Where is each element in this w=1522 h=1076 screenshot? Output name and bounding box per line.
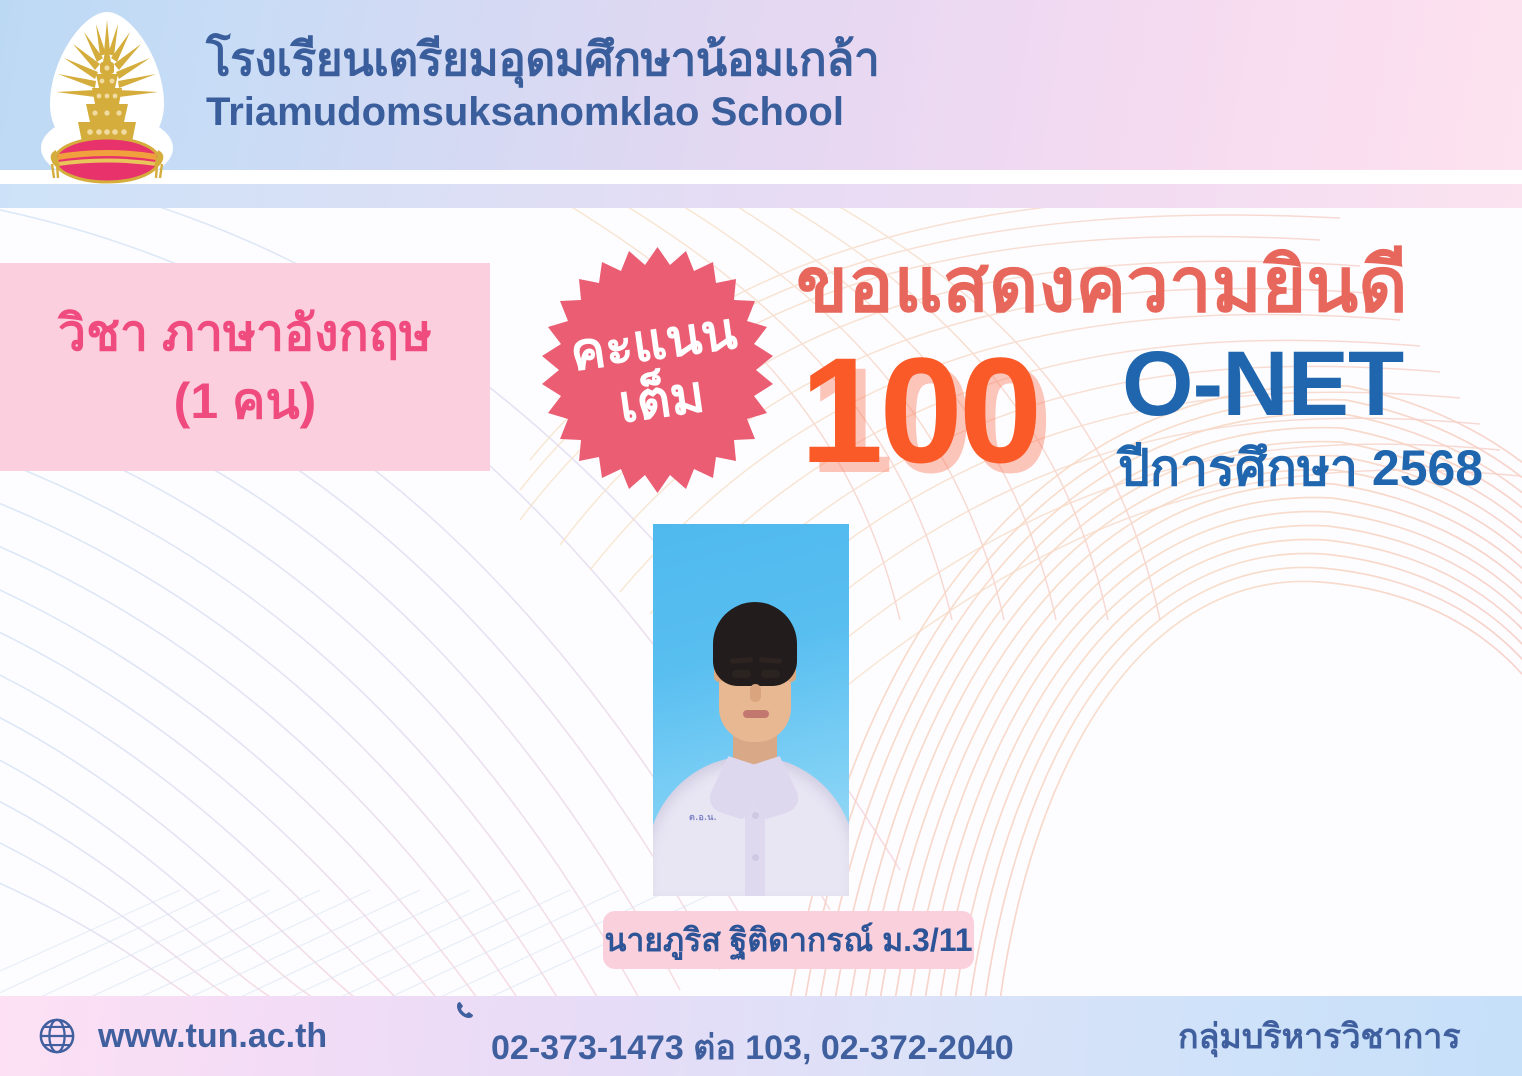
school-title-block: โรงเรียนเตรียมอุดมศึกษาน้อมเกล้า Triamud…: [206, 34, 879, 136]
badge-line-2: เต็ม: [615, 367, 707, 430]
subject-name: วิชา ภาษาอังกฤษ: [58, 303, 432, 363]
website-url[interactable]: www.tun.ac.th: [98, 1017, 327, 1056]
school-name-thai: โรงเรียนเตรียมอุดมศึกษาน้อมเกล้า: [206, 34, 879, 85]
badge-text-block: คะแนน เต็ม: [513, 226, 801, 514]
phone-icon: [455, 1000, 475, 1020]
poster-canvas: โรงเรียนเตรียมอุดมศึกษาน้อมเกล้า Triamud…: [0, 0, 1522, 1076]
academic-year: ปีการศึกษา 2568: [1118, 443, 1483, 493]
photo-eye-right: [761, 670, 780, 678]
photo-nose: [750, 684, 761, 702]
photo-shirt-button: [752, 854, 759, 861]
globe-icon: [38, 1017, 76, 1055]
congratulations-headline: ขอแสดงความยินดี: [796, 248, 1408, 324]
photo-hair-fringe: [715, 616, 795, 652]
footer-phone-group: 02-373-1473 ต่อ 103, 02-372-2040: [455, 998, 1014, 1074]
full-score-badge: คะแนน เต็ม: [530, 243, 785, 498]
photo-mouth: [743, 710, 769, 718]
photo-shirt-button: [752, 812, 759, 819]
subject-count: (1 คน): [174, 371, 317, 431]
department-name: กลุ่มบริหารวิชาการ: [1178, 1009, 1461, 1063]
score-value: 100: [800, 335, 1038, 485]
footer-website-group[interactable]: www.tun.ac.th: [38, 1017, 327, 1056]
header-accent-stripe: [0, 184, 1522, 208]
header-divider-stripe: [0, 170, 1522, 184]
student-name: นายภูริส ฐิติดากรณ์ ม.3/11: [604, 915, 972, 966]
footer-bar: www.tun.ac.th 02-373-1473 ต่อ 103, 02-37…: [0, 996, 1522, 1076]
phone-numbers: 02-373-1473 ต่อ 103, 02-372-2040: [491, 1020, 1014, 1074]
thai-royal-emblem-phra-kiao-icon: [36, 8, 178, 186]
badge-line-1: คะแนน: [567, 304, 740, 379]
uniform-badge-text: ต.อ.น.: [689, 810, 717, 824]
student-photo: ต.อ.น.: [653, 524, 849, 896]
school-name-english: Triamudomsuksanomklao School: [206, 89, 879, 136]
subject-box: วิชา ภาษาอังกฤษ (1 คน): [0, 263, 490, 471]
exam-name: O-NET: [1122, 338, 1403, 430]
student-name-pill: นายภูริส ฐิติดากรณ์ ม.3/11: [603, 911, 974, 969]
photo-eye-left: [732, 670, 751, 678]
